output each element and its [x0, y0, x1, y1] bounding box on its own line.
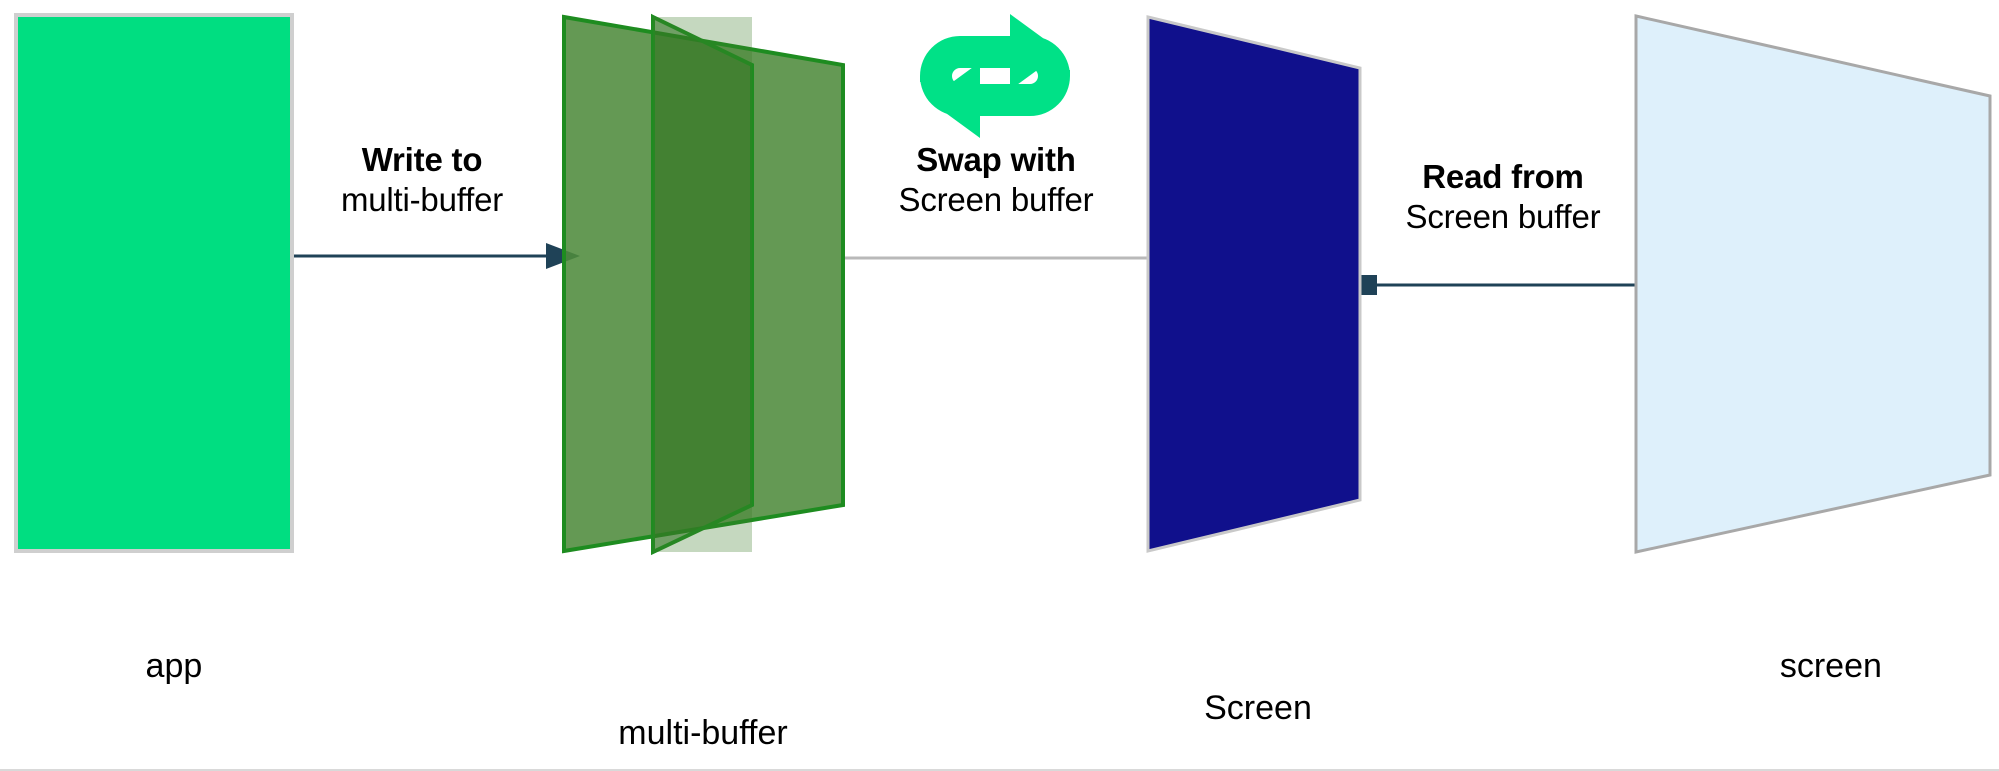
write-to-bold-text: Write to	[262, 140, 582, 180]
diagram-shapes-layer	[0, 0, 1999, 771]
write-to-plain-text: multi-buffer	[262, 180, 582, 220]
node-multi-buffer-shape[interactable]	[564, 17, 843, 552]
edge-read-from	[1355, 275, 1640, 295]
read-from-bold-text: Read from	[1343, 157, 1663, 197]
edge-label-write-to: Write to multi-buffer	[262, 140, 582, 219]
diagram-canvas: Write to multi-buffer Swap with Screen b…	[0, 0, 1999, 771]
swap-with-plain-text: Screen buffer	[836, 180, 1156, 220]
edge-write-to	[292, 243, 580, 269]
screen-trapezoid[interactable]	[1636, 16, 1990, 552]
screen-buffer-trapezoid[interactable]	[1148, 17, 1360, 551]
read-from-plain-text: Screen buffer	[1343, 197, 1663, 237]
app-rect[interactable]	[16, 15, 292, 551]
node-app-shape[interactable]	[16, 15, 292, 551]
node-screen-buffer-shape[interactable]	[1148, 17, 1360, 551]
swap-icon	[920, 14, 1070, 138]
node-screen-shape[interactable]	[1636, 16, 1990, 552]
edge-label-read-from: Read from Screen buffer	[1343, 157, 1663, 236]
swap-with-bold-text: Swap with	[836, 140, 1156, 180]
edge-label-swap-with: Swap with Screen buffer	[836, 140, 1156, 219]
multi-buffer-slab-front-face	[653, 17, 752, 552]
